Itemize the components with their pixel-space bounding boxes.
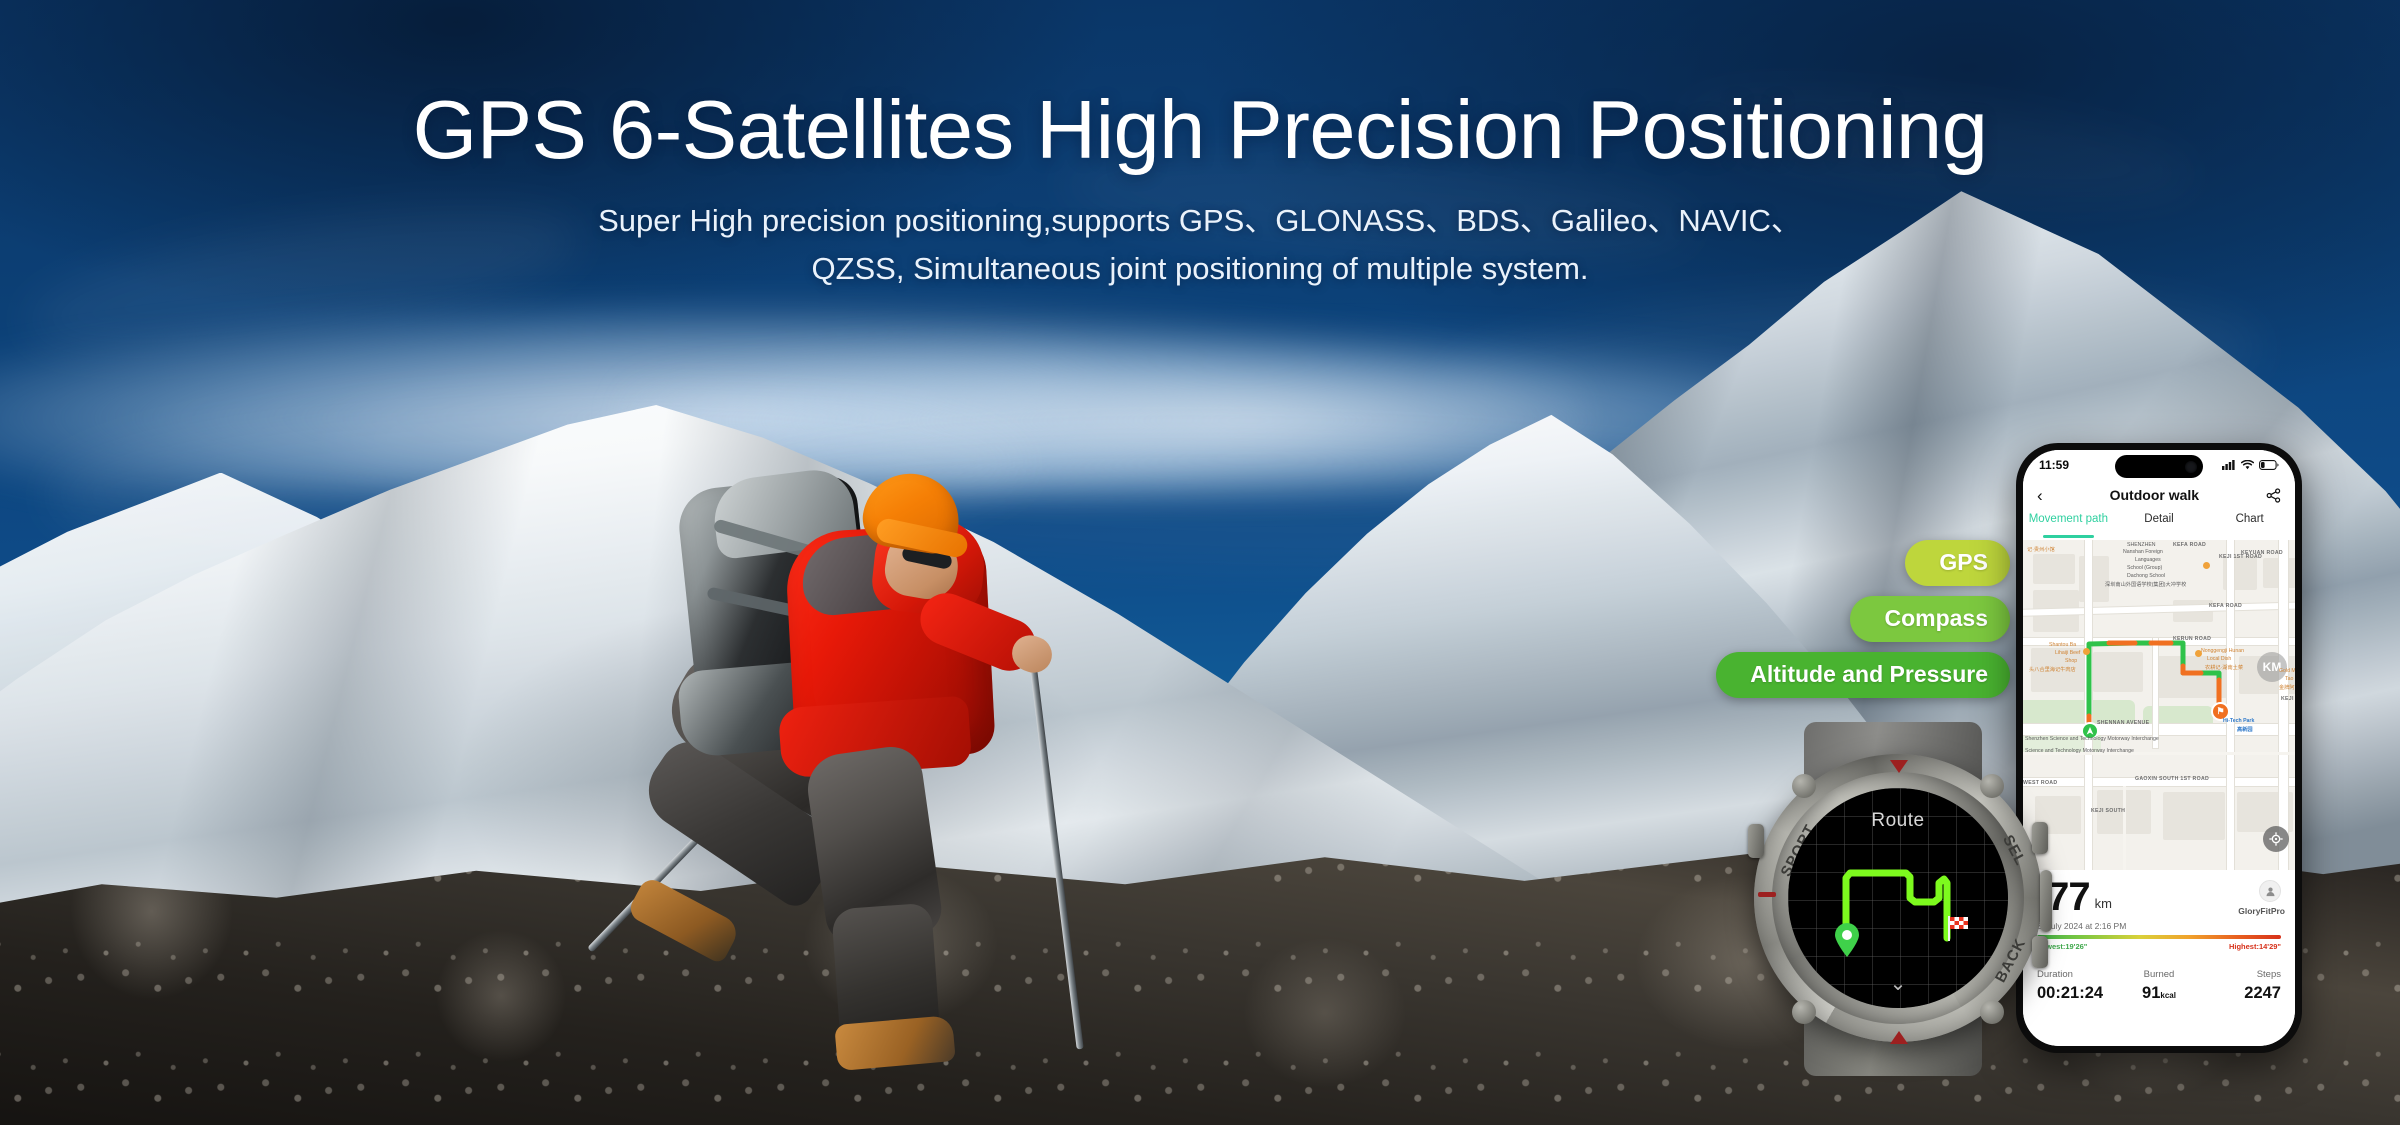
locate-icon <box>2269 832 2283 846</box>
front-camera-icon <box>2185 461 2197 473</box>
map-label: 高新园 <box>2237 726 2253 733</box>
map-scale-badge: KM <box>2257 652 2287 682</box>
map-label: Languages <box>2135 557 2161 563</box>
hiker-back-boot <box>626 875 742 965</box>
stat-duration-value: 00:21:24 <box>2037 984 2118 1003</box>
hero-subtitle-line-1: Super High precision positioning,support… <box>0 197 2400 245</box>
back-chevron-icon[interactable]: ‹ <box>2037 487 2043 504</box>
map-poi[interactable] <box>2203 562 2210 569</box>
map-label: School (Group) <box>2127 565 2162 571</box>
hero-subtitle: Super High precision positioning,support… <box>0 197 2400 293</box>
badge-compass-label: Compass <box>1884 605 1988 631</box>
tab-chart[interactable]: Chart <box>2204 510 2295 540</box>
hiker-illustration <box>640 470 1070 1070</box>
map-label: KEJI SOUTH <box>2091 808 2125 814</box>
map-label: KEJI SOUTH 4TH ROAD <box>2281 696 2295 702</box>
map-label: KEJI 1ST ROAD <box>2219 554 2262 560</box>
stat-burned-value: 91kcal <box>2118 984 2199 1003</box>
map-label: KEFA ROAD <box>2209 603 2242 609</box>
bezel-marker-bottom <box>1890 1031 1908 1044</box>
pace-highest: Highest:14'29" <box>2229 942 2281 951</box>
map-poi[interactable] <box>2083 648 2090 655</box>
map-label: GAOXIN SOUTH 1ST ROAD <box>2135 776 2209 782</box>
map-pin-icon <box>1832 922 1862 958</box>
map-label: Local Dish <box>2207 656 2231 662</box>
map-label: 深圳南山外国语学校(集团)大冲学校 <box>2105 581 2186 588</box>
phone-status-bar: 11:59 <box>2023 450 2295 480</box>
stat-burned-unit: kcal <box>2160 991 2176 1000</box>
map-label: 农耕记·湖南土菜 <box>2205 664 2243 671</box>
stat-row: Duration 00:21:24 Burned 91kcal Steps 22… <box>2037 969 2281 1003</box>
map-locate-button[interactable] <box>2263 826 2289 852</box>
map-label: Dachong School <box>2127 573 2165 579</box>
user-icon <box>2265 886 2276 897</box>
stat-duration-label: Duration <box>2037 969 2118 980</box>
smartphone-mockup: 11:59 <box>2016 443 2302 1053</box>
watch-button-side[interactable] <box>2040 870 2052 932</box>
stat-steps: Steps 2247 <box>2200 969 2281 1003</box>
map-label: 记·贵州小馆 <box>2027 546 2055 553</box>
pace-gradient-bar <box>2037 935 2281 939</box>
stat-burned-number: 91 <box>2142 984 2160 1002</box>
route-map[interactable]: ⚑ KM 记·贵州小馆 <box>2023 540 2295 870</box>
watch-chevron-down-icon[interactable]: ⌄ <box>1788 974 2008 994</box>
battery-icon <box>2259 460 2279 470</box>
stat-steps-value: 2247 <box>2200 984 2281 1003</box>
tab-detail[interactable]: Detail <box>2114 510 2205 540</box>
map-route-track <box>2023 540 2295 870</box>
hiker-front-boot <box>834 1015 956 1071</box>
route-end-marker: ⚑ <box>2213 704 2228 719</box>
map-label: SHENZHEN <box>2127 542 2156 548</box>
tab-movement-path[interactable]: Movement path <box>2023 510 2114 540</box>
phone-page-title: Outdoor walk <box>2110 487 2199 503</box>
badge-gps[interactable]: GPS <box>1905 540 2010 586</box>
status-icons <box>2222 460 2279 470</box>
map-label: Nanshan Foreign <box>2123 549 2163 555</box>
bezel-marker-top <box>1890 760 1908 773</box>
watch-button-sel[interactable] <box>2032 822 2048 854</box>
distance-unit: km <box>2095 896 2112 916</box>
map-label: Tao <box>2285 676 2293 682</box>
page-title: GPS 6-Satellites High Precision Position… <box>0 88 2400 171</box>
map-label: Gold M <box>2279 668 2295 674</box>
phone-screen: 11:59 <box>2023 450 2295 1046</box>
share-icon[interactable] <box>2266 488 2281 503</box>
hero-text-block: GPS 6-Satellites High Precision Position… <box>0 88 2400 293</box>
status-time: 11:59 <box>2039 458 2069 472</box>
activity-summary-panel: GloryFitPro .77 km 8. July 2024 at 2:16 … <box>2023 870 2295 1046</box>
map-label: Nonggengji Hunan <box>2201 648 2244 654</box>
map-label: KEFA ROAD <box>2173 542 2206 548</box>
badge-compass[interactable]: Compass <box>1850 596 2010 642</box>
avatar[interactable] <box>2259 880 2281 902</box>
smartwatch: SPORT SEL BACK Route <box>1748 738 2048 1058</box>
bezel-marker-left <box>1758 892 1776 897</box>
map-label: Shop <box>2065 658 2077 664</box>
stat-burned: Burned 91kcal <box>2118 969 2199 1003</box>
stat-steps-label: Steps <box>2200 969 2281 980</box>
signal-icon <box>2222 460 2236 470</box>
phone-nav-bar: ‹ Outdoor walk <box>2023 480 2295 510</box>
watch-screen[interactable]: Route ⌄ <box>1788 788 2008 1008</box>
map-label: 头八合里海记牛肉店 <box>2029 666 2076 673</box>
hero-banner: GPS 6-Satellites High Precision Position… <box>0 0 2400 1125</box>
checkered-flag-icon <box>1946 914 1972 942</box>
activity-datetime: 8. July 2024 at 2:16 PM <box>2037 921 2281 931</box>
wifi-icon <box>2241 460 2254 470</box>
navigation-arrow-icon <box>2086 727 2094 735</box>
stat-duration: Duration 00:21:24 <box>2037 969 2118 1003</box>
map-label: 金牌阿 <box>2279 684 2295 691</box>
pace-range-row: Lowest:19'26" Highest:14'29" <box>2037 942 2281 951</box>
stat-burned-label: Burned <box>2118 969 2199 980</box>
map-label: KERUN ROAD <box>2173 636 2211 642</box>
badge-altitude-pressure-label: Altitude and Pressure <box>1750 661 1988 687</box>
watch-button-sport[interactable] <box>1748 824 1764 858</box>
phone-tab-bar: Movement path Detail Chart <box>2023 510 2295 540</box>
map-label: Shantou Ba <box>2049 642 2076 648</box>
feature-badge-list: GPS Compass Altitude and Pressure <box>1716 540 2010 698</box>
badge-gps-label: GPS <box>1939 549 1988 575</box>
app-brand-label: GloryFitPro <box>2238 906 2285 916</box>
watch-button-back[interactable] <box>2032 936 2048 968</box>
map-label: Lihaiji Beef <box>2055 650 2080 656</box>
map-label: SHENNAN AVENUE <box>2097 720 2149 726</box>
dynamic-island <box>2115 455 2203 478</box>
hero-subtitle-line-2: QZSS, Simultaneous joint positioning of … <box>0 245 2400 293</box>
badge-altitude-pressure[interactable]: Altitude and Pressure <box>1716 652 2010 698</box>
map-label: Hi-Tech Park <box>2223 718 2254 724</box>
